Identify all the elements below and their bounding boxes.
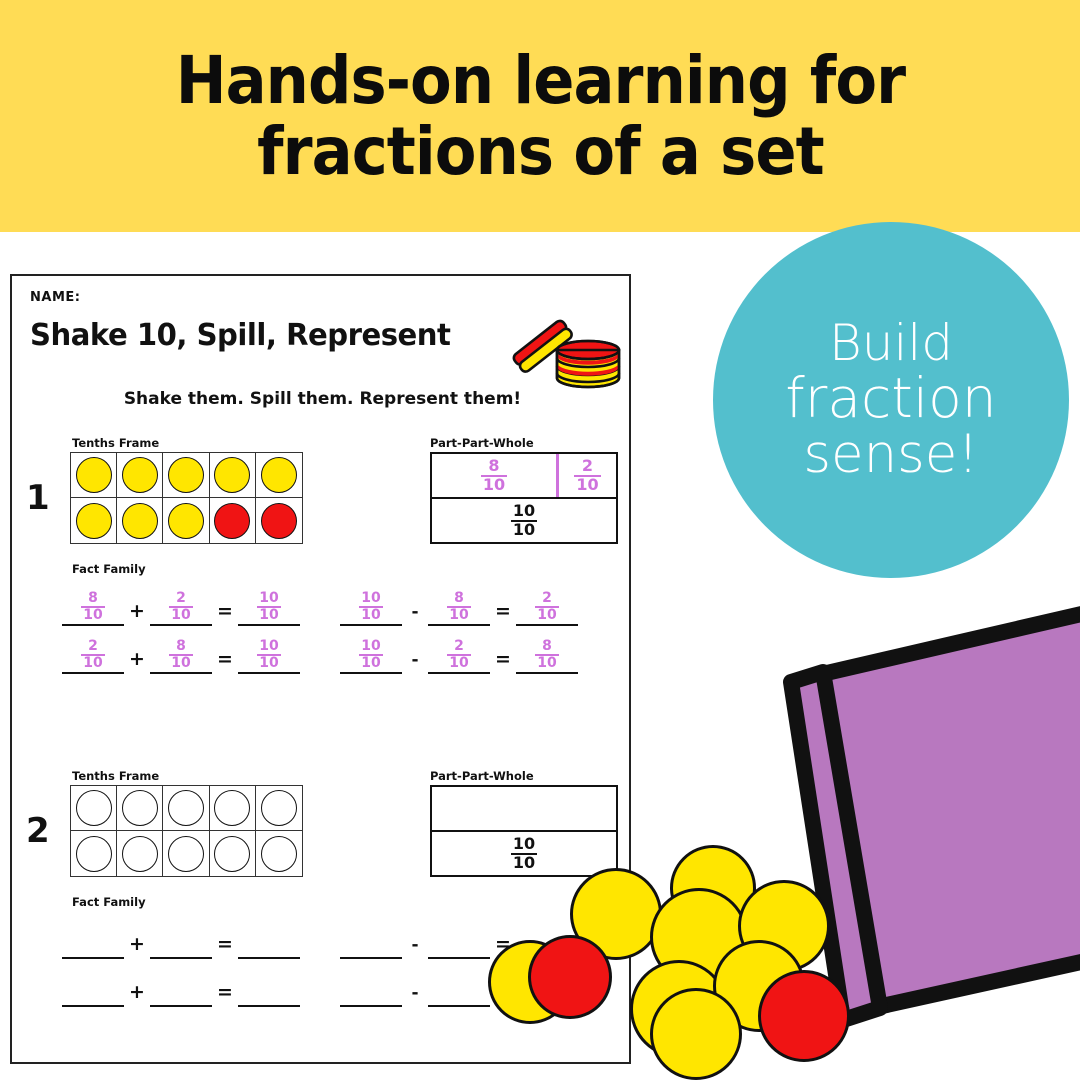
fraction-numerator: 8 [481,458,507,474]
counter-chip-empty [76,836,112,872]
fraction-numerator: 8 [447,591,470,605]
answer-slot[interactable]: 2 10 [516,588,578,626]
counter-chip-yellow [76,457,112,493]
fraction-numerator: 10 [359,591,382,605]
fraction-denominator: 10 [81,654,104,670]
tenths-frame [70,785,303,877]
counter-chip-empty [76,790,112,826]
badge-line-3: sense! [785,427,996,483]
frame-cell[interactable] [210,498,256,543]
counter-chip-yellow [168,457,204,493]
frame-cell[interactable] [117,498,163,543]
fact-family-row: 2 10 + 8 10 = 10 [62,626,622,674]
answer-slot[interactable]: 8 10 [516,636,578,674]
fraction: 2 10 [535,591,558,622]
fraction: 8 10 [481,458,507,493]
answer-slot[interactable]: 10 10 [238,588,300,626]
counter-chip-yellow [76,503,112,539]
spilled-chip-yellow [650,988,742,1080]
fraction-numerator: 10 [359,639,382,653]
header-banner: Hands-on learning for fractions of a set [0,0,1080,232]
fraction-numerator: 2 [535,591,558,605]
counter-chip-empty [261,836,297,872]
ppw-part-right[interactable] [556,787,616,830]
counter-chip-yellow [214,457,250,493]
fraction-denominator: 10 [535,606,558,622]
chip-stack-icon [505,312,633,392]
fact-family-label: Fact Family [72,562,146,576]
fraction: 8 10 [535,639,558,670]
worksheet-subtitle: Shake them. Spill them. Represent them! [12,389,633,409]
ppw-part-left[interactable] [432,787,556,830]
header-title: Hands-on learning for fractions of a set [138,45,941,188]
frame-cell[interactable] [256,831,302,876]
badge-line-2: fraction [785,370,996,428]
counter-chip-empty [261,790,297,826]
fraction-denominator: 10 [359,606,382,622]
operator-minus: - [402,602,428,626]
fraction-numerator: 2 [81,639,104,653]
answer-slot-blank[interactable] [238,969,300,1007]
counter-chip-empty [168,836,204,872]
frame-cell[interactable] [210,831,256,876]
fraction-denominator: 10 [169,606,192,622]
answer-slot-blank[interactable] [62,969,124,1007]
fraction-denominator: 10 [169,654,192,670]
operator-equals: = [490,600,516,626]
worksheet-title: Shake 10, Spill, Represent [30,318,450,353]
answer-slot[interactable]: 10 10 [340,636,402,674]
addition-equation: + = [62,921,300,959]
fraction-denominator: 10 [81,606,104,622]
fraction-numerator: 2 [447,639,470,653]
answer-slot[interactable]: 2 10 [62,636,124,674]
counter-chip-empty [122,836,158,872]
operator-plus: + [124,933,150,959]
ppw-part-left[interactable]: 8 10 [432,454,556,497]
subtraction-equation: 10 10 - 2 10 = 8 [340,636,578,674]
operator-plus: + [124,600,150,626]
part-part-whole-label: Part-Part-Whole [430,436,534,450]
counter-chip-red [261,503,297,539]
operator-plus: + [124,981,150,1007]
fraction-denominator: 10 [481,475,507,493]
section-number: 1 [26,478,50,518]
frame-cell[interactable] [256,453,302,498]
spilled-chips-group [470,840,890,1090]
frame-cell[interactable] [256,498,302,543]
answer-slot-blank[interactable] [340,969,402,1007]
fraction-numerator: 2 [574,458,600,474]
fraction-numerator: 8 [81,591,104,605]
fact-family-rows: 8 10 + 2 10 = 10 [62,578,622,674]
answer-slot-blank[interactable] [62,921,124,959]
counter-chip-empty [122,790,158,826]
answer-slot-blank[interactable] [150,921,212,959]
counter-chip-empty [168,790,204,826]
operator-minus: - [402,650,428,674]
fraction: 10 10 [257,639,280,670]
operator-equals: = [212,648,238,674]
teal-badge: Build fraction sense! [713,222,1069,578]
counter-chip-red [214,503,250,539]
answer-slot[interactable]: 10 10 [238,636,300,674]
answer-slot-blank[interactable] [340,921,402,959]
frame-cell[interactable] [117,453,163,498]
counter-chip-yellow [168,503,204,539]
fraction: 2 10 [447,639,470,670]
fraction-denominator: 10 [447,654,470,670]
fraction-denominator: 10 [511,520,537,538]
section-number: 2 [26,811,50,851]
fraction: 8 10 [169,639,192,670]
spilled-chip-red [758,970,850,1062]
fraction-denominator: 10 [574,475,600,493]
answer-slot[interactable]: 8 10 [62,588,124,626]
name-field-label: NAME: [30,290,80,305]
answer-slot[interactable]: 8 10 [428,588,490,626]
fraction-denominator: 10 [535,654,558,670]
frame-cell[interactable] [210,786,256,831]
operator-minus: - [402,983,428,1007]
frame-cell[interactable] [256,786,302,831]
fraction-numerator: 2 [169,591,192,605]
operator-equals: = [212,981,238,1007]
fact-family-row: 8 10 + 2 10 = 10 [62,578,622,626]
ppw-parts-row: 8 10 2 10 [432,454,616,499]
fraction: 10 10 [257,591,280,622]
answer-slot[interactable]: 2 10 [428,636,490,674]
ppw-parts-row [432,787,616,832]
fraction-numerator: 8 [169,639,192,653]
header-title-line-1: Hands-on learning for [175,45,904,116]
header-title-line-2: fractions of a set [175,116,904,187]
answer-slot[interactable]: 2 10 [150,588,212,626]
frame-cell[interactable] [163,786,209,831]
counter-chip-empty [214,790,250,826]
addition-equation: 2 10 + 8 10 = 10 [62,636,300,674]
operator-equals: = [212,933,238,959]
frame-cell[interactable] [163,831,209,876]
fact-family-label: Fact Family [72,895,146,909]
badge-line-1: Build [785,317,996,370]
fraction-numerator: 10 [257,591,280,605]
subtraction-equation: 10 10 - 8 10 = 2 [340,588,578,626]
operator-minus: - [402,935,428,959]
fraction-denominator: 10 [359,654,382,670]
fraction: 2 10 [574,458,600,493]
counter-chip-empty [214,836,250,872]
ppw-whole-row[interactable]: 10 10 [432,499,616,542]
addition-equation: 8 10 + 2 10 = 10 [62,588,300,626]
fraction: 10 10 [359,591,382,622]
part-part-whole-box: 8 10 2 10 10 10 [430,452,618,544]
frame-cell[interactable] [210,453,256,498]
operator-plus: + [124,648,150,674]
fraction-denominator: 10 [447,606,470,622]
fraction: 2 10 [169,591,192,622]
answer-slot[interactable]: 8 10 [150,636,212,674]
frame-cell[interactable] [163,498,209,543]
counter-chip-yellow [261,457,297,493]
addition-equation: + = [62,969,300,1007]
tenths-frame-label: Tenths Frame [72,769,159,783]
badge-text: Build fraction sense! [785,317,996,483]
fraction: 10 10 [511,503,537,538]
fraction-denominator: 10 [257,606,280,622]
frame-cell[interactable] [71,453,117,498]
counter-chip-yellow [122,503,158,539]
fraction-numerator: 10 [511,503,537,519]
fraction: 2 10 [81,639,104,670]
frame-cell[interactable] [71,831,117,876]
frame-cell[interactable] [117,831,163,876]
frame-cell[interactable] [117,786,163,831]
part-part-whole-label: Part-Part-Whole [430,769,534,783]
frame-cell[interactable] [71,498,117,543]
operator-equals: = [212,600,238,626]
fraction-numerator: 10 [257,639,280,653]
fraction: 8 10 [447,591,470,622]
counter-chip-yellow [122,457,158,493]
spilled-chip-red [528,935,612,1019]
tenths-frame-label: Tenths Frame [72,436,159,450]
ppw-part-right[interactable]: 2 10 [556,454,616,497]
answer-slot-blank[interactable] [150,969,212,1007]
answer-slot-blank[interactable] [238,921,300,959]
fraction-denominator: 10 [257,654,280,670]
answer-slot[interactable]: 10 10 [340,588,402,626]
fraction: 8 10 [81,591,104,622]
tenths-frame [70,452,303,544]
fraction: 10 10 [359,639,382,670]
frame-cell[interactable] [163,453,209,498]
operator-equals: = [490,648,516,674]
fraction-numerator: 8 [535,639,558,653]
frame-cell[interactable] [71,786,117,831]
